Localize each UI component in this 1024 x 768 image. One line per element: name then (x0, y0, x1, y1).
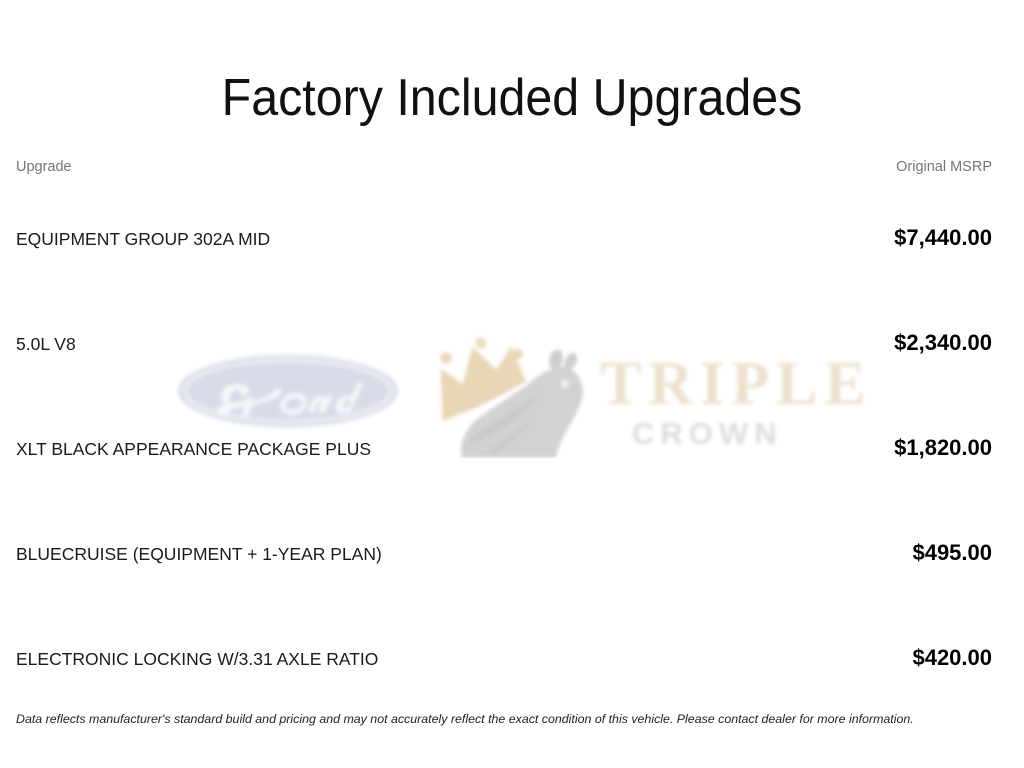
upgrade-name: BLUECRUISE (EQUIPMENT + 1-YEAR PLAN) (16, 543, 382, 565)
table-row: XLT BLACK APPEARANCE PACKAGE PLUS $1,820… (16, 436, 992, 541)
factory-upgrades-page: TRIPLE CROWN Factory Included Upgrades U… (0, 0, 1024, 768)
column-header-original-msrp: Original MSRP (896, 158, 992, 176)
upgrade-name: EQUIPMENT GROUP 302A MID (16, 228, 270, 250)
upgrade-price: $2,340.00 (894, 331, 992, 355)
content-layer: Factory Included Upgrades Upgrade Origin… (0, 0, 1024, 768)
table-row: BLUECRUISE (EQUIPMENT + 1-YEAR PLAN) $49… (16, 541, 992, 646)
column-header-upgrade: Upgrade (16, 158, 72, 176)
upgrade-name: XLT BLACK APPEARANCE PACKAGE PLUS (16, 438, 371, 460)
upgrade-name: ELECTRONIC LOCKING W/3.31 AXLE RATIO (16, 648, 378, 670)
disclaimer-text: Data reflects manufacturer's standard bu… (16, 711, 1008, 727)
upgrade-price: $7,440.00 (894, 226, 992, 250)
table-row: 5.0L V8 $2,340.00 (16, 331, 992, 436)
table-header-row: Upgrade Original MSRP (16, 158, 992, 226)
page-title: Factory Included Upgrades (36, 68, 988, 128)
upgrade-price: $420.00 (912, 646, 992, 670)
upgrade-name: 5.0L V8 (16, 333, 76, 355)
upgrade-price: $495.00 (912, 541, 992, 565)
upgrade-price: $1,820.00 (894, 436, 992, 460)
table-row: EQUIPMENT GROUP 302A MID $7,440.00 (16, 226, 992, 331)
table-row: ELECTRONIC LOCKING W/3.31 AXLE RATIO $42… (16, 646, 992, 751)
upgrades-table: Upgrade Original MSRP EQUIPMENT GROUP 30… (16, 158, 992, 751)
